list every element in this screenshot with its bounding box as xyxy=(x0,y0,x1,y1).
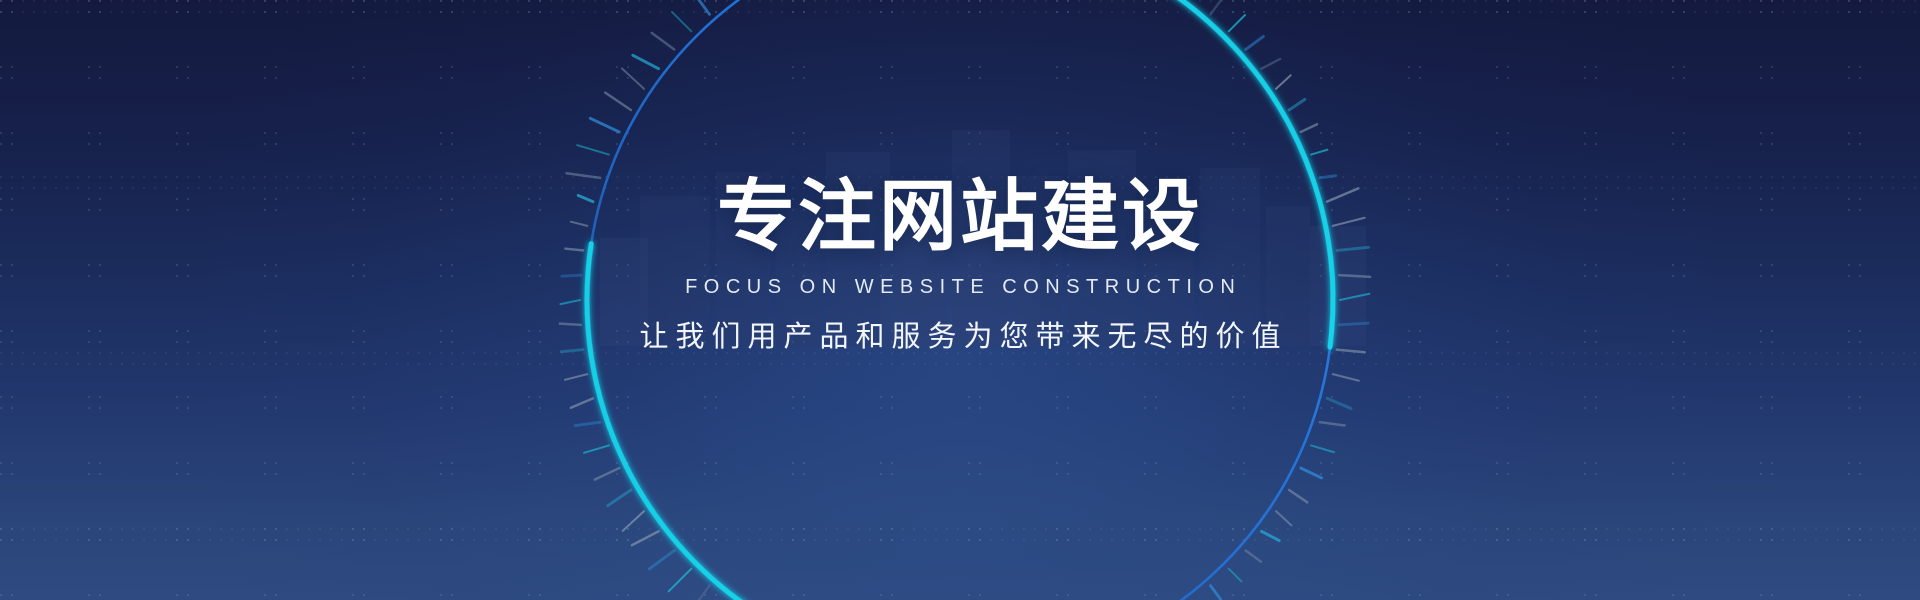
banner-subtitle-english: FOCUS ON WEBSITE CONSTRUCTION xyxy=(0,277,1920,297)
hero-banner: 专注网站建设 FOCUS ON WEBSITE CONSTRUCTION 让我们… xyxy=(0,0,1920,600)
banner-text-block: 专注网站建设 FOCUS ON WEBSITE CONSTRUCTION 让我们… xyxy=(0,178,1920,351)
page-title: 专注网站建设 xyxy=(0,178,1920,256)
banner-tagline: 让我们用产品和服务为您带来无尽的价值 xyxy=(0,322,1920,351)
